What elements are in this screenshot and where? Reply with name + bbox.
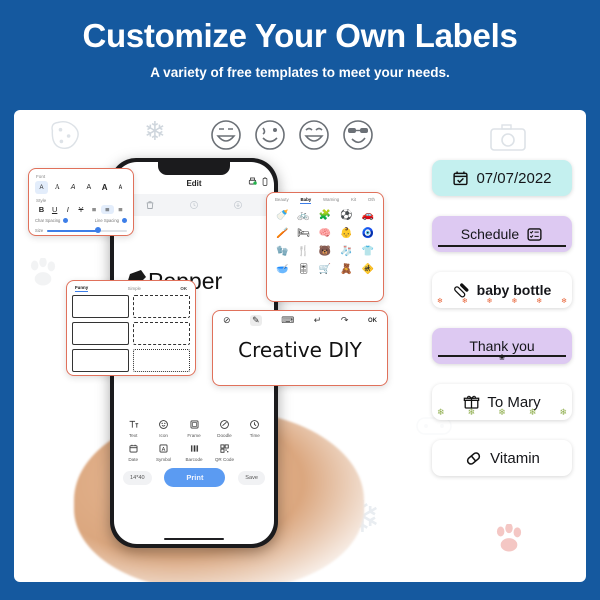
checklist-icon xyxy=(526,226,543,243)
frame-ok-button[interactable]: OK xyxy=(180,286,187,291)
tool-symbol[interactable]: A Symbol xyxy=(148,442,178,463)
schedule-label-text: Schedule xyxy=(461,226,519,242)
app-header: Edit xyxy=(114,172,274,194)
battery-icon[interactable] xyxy=(262,177,268,186)
icon-panel[interactable]: Beauty Baby Warning Kit Oth 🍼 🚲 🧩 ⚽ 🚗 🪥 … xyxy=(266,192,384,302)
cookie-icon xyxy=(46,118,84,154)
baby-bottle-icon xyxy=(453,282,470,299)
emoji-row xyxy=(209,118,375,152)
font-option[interactable]: A xyxy=(82,181,95,194)
leaf-decoration: ❄❄❄❄❄ xyxy=(437,407,567,418)
icon-crib[interactable]: 🛏 xyxy=(293,225,313,242)
download-icon[interactable] xyxy=(233,200,243,210)
pill-icon xyxy=(464,449,483,468)
icon-panel-tabs[interactable]: Beauty Baby Warning Kit Oth xyxy=(272,197,378,207)
italic-button[interactable]: I xyxy=(61,205,74,214)
tab-warning[interactable]: Warning xyxy=(323,197,339,204)
font-label: Font xyxy=(36,174,127,179)
icon-cutlery[interactable]: 🍴 xyxy=(293,243,313,260)
font-option[interactable]: A xyxy=(51,181,64,194)
frame-option[interactable] xyxy=(133,295,190,318)
date-label-card[interactable]: 07/07/2022 xyxy=(432,160,572,196)
page-subtitle: A variety of free templates to meet your… xyxy=(0,65,600,80)
icon-bear[interactable]: 🐻 xyxy=(315,243,335,260)
align-left-button[interactable]: ≡ xyxy=(88,205,101,214)
frame-option[interactable] xyxy=(133,349,190,372)
barcode-icon xyxy=(179,442,209,456)
clock-icon xyxy=(240,417,270,431)
tool-row-2: Date A Symbol Barcode xyxy=(118,442,270,463)
slider-knob[interactable] xyxy=(95,227,101,233)
bow-icon: ❀ xyxy=(499,353,506,362)
eraser-icon[interactable]: ⌨ xyxy=(281,315,294,326)
baby-bottle-label-card[interactable]: baby bottle ❄❄❄❄❄❄ xyxy=(432,272,572,308)
icon-bowl[interactable]: 🥣 xyxy=(272,261,292,278)
diy-ok-button[interactable]: OK xyxy=(368,318,377,324)
align-right-button[interactable]: ≡ xyxy=(114,205,127,214)
tool-label: Date xyxy=(118,457,148,462)
icon-toothbrush[interactable]: 🪥 xyxy=(272,225,292,242)
tool-label: Frame xyxy=(179,433,209,438)
icon-baby-face[interactable]: 👶 xyxy=(336,225,356,242)
frame-option[interactable] xyxy=(72,322,129,345)
tool-grid: Text Icon Frame xyxy=(114,411,274,464)
tool-label: Barcode xyxy=(179,457,209,462)
tab-beauty[interactable]: Beauty xyxy=(275,197,289,204)
baby-bottle-label-text: baby bottle xyxy=(477,282,552,298)
camera-icon xyxy=(488,120,528,154)
diy-toolbar[interactable]: ⊘ ✎ ⌨ ↵ ↷ OK xyxy=(219,315,381,328)
tool-row-1: Text Icon Frame xyxy=(118,417,270,438)
strikethrough-button[interactable]: Y xyxy=(74,205,87,214)
label-card-list: 07/07/2022 Schedule baby bottle xyxy=(432,160,572,496)
tool-label: Text xyxy=(118,433,148,438)
char-spacing-handle[interactable] xyxy=(63,218,68,223)
font-option[interactable]: A xyxy=(114,181,127,194)
phone-footer: 14*40 Print Save xyxy=(114,464,274,487)
size-slider[interactable] xyxy=(47,230,127,232)
font-option[interactable]: A xyxy=(67,181,80,194)
to-mary-label-card[interactable]: To Mary ❄❄❄❄❄ xyxy=(432,384,572,420)
icon-rattle[interactable]: 🎚 xyxy=(293,261,313,278)
tool-qrcode[interactable]: QR Code xyxy=(209,442,239,463)
paw-icon xyxy=(492,524,526,554)
undo-icon[interactable]: ↵ xyxy=(314,315,322,326)
frame-icon xyxy=(179,417,209,431)
header: Customize Your Own Labels A variety of f… xyxy=(0,0,600,80)
icon-blocks[interactable]: 🧩 xyxy=(315,207,335,224)
icon-brain[interactable]: 🧠 xyxy=(315,225,335,242)
phone-notch xyxy=(158,162,230,175)
tool-doodle[interactable]: Doodle xyxy=(209,417,239,438)
winking-face-icon xyxy=(253,118,287,152)
tool-barcode[interactable]: Barcode xyxy=(179,442,209,463)
diy-canvas-text[interactable]: Creative DIY xyxy=(219,338,381,362)
tool-time[interactable]: Time xyxy=(240,417,270,438)
size-label: Size xyxy=(35,228,43,233)
print-button[interactable]: Print xyxy=(164,468,225,487)
thank-you-label-text: Thank you xyxy=(469,338,534,354)
text-icon xyxy=(118,417,148,431)
printer-icon[interactable] xyxy=(248,177,257,186)
home-indicator xyxy=(164,538,224,541)
diy-panel[interactable]: ⊘ ✎ ⌨ ↵ ↷ OK Creative DIY xyxy=(212,310,388,386)
tool-icon[interactable]: Icon xyxy=(148,417,178,438)
size-row[interactable]: Size xyxy=(35,228,127,233)
icon-ball[interactable]: ⚽ xyxy=(336,207,356,224)
char-spacing-label: Char Spacing xyxy=(35,218,60,223)
tool-frame[interactable]: Frame xyxy=(179,417,209,438)
icon-baby-crawl[interactable]: 🚸 xyxy=(358,261,378,278)
clock-icon[interactable] xyxy=(189,200,199,210)
icon-stroller[interactable]: 🛒 xyxy=(315,261,335,278)
style-label: Style xyxy=(36,198,127,203)
vitamin-label-text: Vitamin xyxy=(490,450,540,467)
pencil-icon[interactable]: ✎ xyxy=(250,315,262,326)
tab-other[interactable]: Oth xyxy=(368,197,375,204)
frame-option[interactable] xyxy=(72,349,129,372)
tool-label: QR Code xyxy=(209,457,239,462)
save-button[interactable]: Save xyxy=(238,471,265,485)
app-title: Edit xyxy=(186,179,201,188)
stage: ❄ ❄ xyxy=(14,110,586,582)
line-spacing-label: Line Spacing xyxy=(95,218,119,223)
icon-bib[interactable]: 🧤 xyxy=(272,243,292,260)
icon-shirt[interactable]: 👕 xyxy=(358,243,378,260)
no-entry-icon[interactable]: ⊘ xyxy=(223,315,231,326)
line-spacing-handle[interactable] xyxy=(122,218,127,223)
tab-funny[interactable]: Funny xyxy=(75,285,88,292)
bold-button[interactable]: B xyxy=(35,205,48,214)
flower-decoration: ❄❄❄❄❄❄ xyxy=(437,297,567,305)
tool-label: Doodle xyxy=(209,433,239,438)
char-spacing-row[interactable]: Char Spacing Line Spacing xyxy=(35,218,127,223)
tool-empty xyxy=(240,442,270,463)
schedule-label-card[interactable]: Schedule xyxy=(432,216,572,252)
frame-grid[interactable] xyxy=(72,295,190,372)
icon-bicycle[interactable]: 🚲 xyxy=(293,207,313,224)
page-title: Customize Your Own Labels xyxy=(0,18,600,54)
frame-option[interactable] xyxy=(133,322,190,345)
svg-text:A: A xyxy=(162,447,166,453)
icon-grid[interactable]: 🍼 🚲 🧩 ⚽ 🚗 🪥 🛏 🧠 👶 🧿 🧤 🍴 🐻 🧦 👕 🥣 🎚 🛒 🧸 xyxy=(272,207,378,278)
underline-button[interactable]: U xyxy=(48,205,61,214)
symbol-icon: A xyxy=(148,442,178,456)
sunglasses-face-icon xyxy=(341,118,375,152)
vitamin-label-card[interactable]: Vitamin xyxy=(432,440,572,476)
doodle-icon xyxy=(209,417,239,431)
grinning-face-icon xyxy=(209,118,243,152)
icon-car[interactable]: 🚗 xyxy=(358,207,378,224)
paw-icon xyxy=(26,258,60,288)
icon-baby-bottle[interactable]: 🍼 xyxy=(272,207,292,224)
font-option[interactable]: A xyxy=(35,181,48,194)
schedule-underline xyxy=(438,245,566,247)
qrcode-icon xyxy=(209,442,239,456)
frame-panel[interactable]: Funny Simple OK xyxy=(66,280,196,376)
tab-kit[interactable]: Kit xyxy=(351,197,356,204)
date-label-text: 07/07/2022 xyxy=(476,170,551,187)
trash-icon[interactable] xyxy=(145,200,155,210)
tab-baby[interactable]: Baby xyxy=(300,197,311,204)
calendar-check-icon xyxy=(452,170,469,187)
snowflake-icon: ❄ xyxy=(144,118,166,144)
frame-option[interactable] xyxy=(72,295,129,318)
align-center-button[interactable]: ≡ xyxy=(101,205,114,214)
tool-label: Time xyxy=(240,433,270,438)
icon-icon xyxy=(148,417,178,431)
icon-mitten[interactable]: 🧦 xyxy=(336,243,356,260)
tool-date[interactable]: Date xyxy=(118,442,148,463)
font-panel[interactable]: Font A A A A A A Style B U I Y ≡ ≡ ≡ Cha… xyxy=(28,168,134,236)
size-button[interactable]: 14*40 xyxy=(123,471,152,485)
tool-label: Icon xyxy=(148,433,178,438)
canvas-toolstrip xyxy=(114,194,274,216)
poster-root: Customize Your Own Labels A variety of f… xyxy=(0,0,600,600)
tool-label: Symbol xyxy=(148,457,178,462)
style-options[interactable]: B U I Y ≡ ≡ ≡ xyxy=(35,205,127,214)
calendar-icon xyxy=(118,442,148,456)
thank-you-label-card[interactable]: Thank you ❀ xyxy=(432,328,572,364)
tool-text[interactable]: Text xyxy=(118,417,148,438)
font-option[interactable]: A xyxy=(98,181,111,194)
icon-bootie[interactable]: 🧸 xyxy=(336,261,356,278)
tab-simple[interactable]: Simple xyxy=(128,286,141,291)
frame-panel-tabs[interactable]: Funny Simple OK xyxy=(72,285,190,295)
font-options[interactable]: A A A A A A xyxy=(35,181,127,194)
icon-socks[interactable]: 🧿 xyxy=(358,225,378,242)
smiling-face-icon xyxy=(297,118,331,152)
redo-icon[interactable]: ↷ xyxy=(341,315,349,326)
